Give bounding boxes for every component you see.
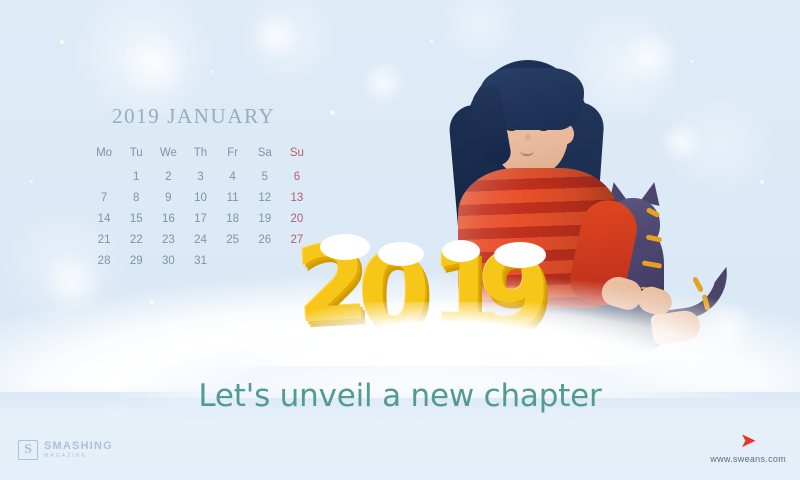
- calendar-widget: 2019 JANUARY Mo Tu We Th Fr Sa Su 1 2: [88, 104, 313, 271]
- calendar-day[interactable]: 13: [281, 187, 313, 208]
- snow-cap: [378, 242, 424, 266]
- calendar-day[interactable]: 12: [249, 187, 281, 208]
- calendar-day[interactable]: 25: [217, 229, 249, 250]
- wallpaper-canvas: 2019 JANUARY Mo Tu We Th Fr Sa Su 1 2: [0, 0, 800, 480]
- calendar-day[interactable]: 29: [120, 250, 152, 271]
- calendar-day[interactable]: 11: [217, 187, 249, 208]
- year-2019-graphic: 2 0 1 9: [296, 238, 596, 348]
- calendar-week-row: 7 8 9 10 11 12 13: [88, 187, 313, 208]
- calendar-day[interactable]: 22: [120, 229, 152, 250]
- weekday-header-tu: Tu: [120, 145, 152, 166]
- weekday-header-we: We: [152, 145, 184, 166]
- calendar-day[interactable]: 17: [184, 208, 216, 229]
- snowflake: [330, 110, 335, 115]
- calendar-day[interactable]: 19: [249, 208, 281, 229]
- calendar-day[interactable]: 3: [184, 166, 216, 187]
- snow-cap: [494, 242, 546, 268]
- snowflake: [760, 180, 764, 184]
- snowflake: [30, 180, 33, 183]
- calendar-day[interactable]: [249, 250, 281, 271]
- calendar-week-row: 28 29 30 31: [88, 250, 313, 271]
- snowflake: [210, 70, 213, 73]
- snowflake: [430, 40, 433, 43]
- snowflake: [460, 430, 463, 433]
- calendar-day[interactable]: 8: [120, 187, 152, 208]
- calendar-week-row: 1 2 3 4 5 6: [88, 166, 313, 187]
- calendar-week-row: 14 15 16 17 18 19 20: [88, 208, 313, 229]
- snow-foreground: [236, 302, 656, 366]
- calendar-title: 2019 JANUARY: [112, 104, 313, 129]
- calendar-day[interactable]: 15: [120, 208, 152, 229]
- calendar-day[interactable]: 28: [88, 250, 120, 271]
- snowflake: [250, 440, 254, 444]
- calendar-grid: Mo Tu We Th Fr Sa Su 1 2 3 4 5 6: [88, 145, 313, 271]
- smashing-name: SMASHING: [44, 441, 113, 452]
- calendar-header-row: Mo Tu We Th Fr Sa Su: [88, 145, 313, 166]
- nose: [525, 134, 531, 140]
- smashing-magazine-logo[interactable]: S SMASHING MAGAZINE: [18, 440, 113, 460]
- calendar-day[interactable]: 24: [184, 229, 216, 250]
- calendar-day[interactable]: 10: [184, 187, 216, 208]
- calendar-day[interactable]: 9: [152, 187, 184, 208]
- calendar-day[interactable]: 1: [120, 166, 152, 187]
- weekday-header-su: Su: [281, 145, 313, 166]
- bokeh-blob: [120, 30, 190, 100]
- weekday-header-fr: Fr: [217, 145, 249, 166]
- foot-front: [650, 309, 702, 345]
- calendar-day[interactable]: 14: [88, 208, 120, 229]
- weekday-header-sa: Sa: [249, 145, 281, 166]
- weekday-header-th: Th: [184, 145, 216, 166]
- bokeh-blob: [250, 10, 300, 60]
- snow-cap: [320, 234, 370, 260]
- arrow-icon: ➤: [710, 431, 786, 451]
- snowflake: [150, 300, 154, 304]
- calendar-day[interactable]: 26: [249, 229, 281, 250]
- tagline: Let's unveil a new chapter: [0, 378, 800, 414]
- calendar-day[interactable]: 23: [152, 229, 184, 250]
- snow-cap: [442, 240, 480, 262]
- sweans-url[interactable]: www.sweans.com: [710, 454, 786, 464]
- calendar-day[interactable]: [217, 250, 249, 271]
- calendar-day[interactable]: 2: [152, 166, 184, 187]
- calendar-day[interactable]: 16: [152, 208, 184, 229]
- smashing-subtitle: MAGAZINE: [44, 454, 113, 459]
- calendar-day[interactable]: 30: [152, 250, 184, 271]
- calendar-week-row: 21 22 23 24 25 26 27: [88, 229, 313, 250]
- calendar-day[interactable]: 6: [281, 166, 313, 187]
- smashing-mark-icon: S: [18, 440, 38, 460]
- calendar-day[interactable]: 5: [249, 166, 281, 187]
- calendar-day[interactable]: 31: [184, 250, 216, 271]
- calendar-day[interactable]: [88, 166, 120, 187]
- calendar-day[interactable]: 7: [88, 187, 120, 208]
- calendar-day[interactable]: 4: [217, 166, 249, 187]
- weekday-header-mo: Mo: [88, 145, 120, 166]
- sweans-credit[interactable]: ➤ www.sweans.com: [710, 431, 786, 464]
- calendar-day[interactable]: 18: [217, 208, 249, 229]
- snowflake: [60, 40, 64, 44]
- smashing-wordmark: SMASHING MAGAZINE: [44, 441, 113, 459]
- calendar-day[interactable]: 21: [88, 229, 120, 250]
